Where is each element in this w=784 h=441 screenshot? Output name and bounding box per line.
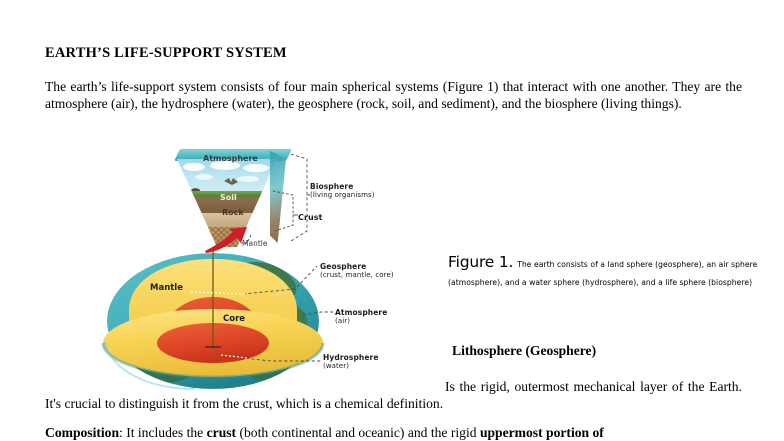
cloud-icon: [183, 163, 205, 171]
cloud-icon: [195, 174, 213, 180]
globe-label-core: Core: [223, 314, 245, 324]
wedge-label-atmosphere: Atmosphere: [203, 154, 258, 163]
callout-subtitle: (crust, mantle, core): [320, 271, 394, 279]
composition-bold-crust: crust: [207, 425, 236, 440]
wedge-layer-atmosphere: [177, 159, 277, 191]
callout-title: Hydrosphere: [323, 353, 379, 362]
globe-label-mantle: Mantle: [150, 283, 183, 293]
section-heading-lithosphere: Lithosphere (Geosphere): [452, 343, 596, 359]
wedge-side-face: [270, 151, 286, 243]
figure-illustration: Atmosphere Soil Rock Mantle Mantle Core …: [95, 145, 435, 393]
callout-subtitle: (water): [323, 362, 379, 370]
composition-text-a: : It includes the: [119, 425, 207, 440]
wedge-label-rock: Rock: [222, 208, 244, 217]
callout-title: Crust: [298, 213, 323, 222]
intro-paragraph: The earth’s life-support system consists…: [45, 78, 742, 112]
page-title: EARTH’S LIFE-SUPPORT SYSTEM: [45, 44, 287, 62]
bird-icon: [223, 177, 239, 187]
wedge-label-mantle: Mantle: [242, 239, 267, 248]
callout-crust: Crust: [298, 213, 323, 222]
callout-geosphere: Geosphere (crust, mantle, core): [320, 262, 394, 279]
callout-hydrosphere: Hydrosphere (water): [323, 353, 379, 370]
composition-paragraph: Composition: It includes the crust (both…: [45, 424, 742, 441]
callout-biosphere: Biosphere (living organisms): [310, 182, 375, 199]
figure-caption-number: Figure 1.: [448, 253, 513, 271]
composition-label: Composition: [45, 425, 119, 440]
callout-title: Biosphere: [310, 182, 375, 191]
cloud-icon: [237, 176, 259, 182]
cloud-icon: [243, 164, 269, 172]
lithosphere-paragraph: Is the rigid, outermost mechanical layer…: [45, 378, 742, 412]
figure-caption: Figure 1. The earth consists of a land s…: [448, 253, 770, 290]
callout-title: Geosphere: [320, 262, 394, 271]
wedge-label-soil: Soil: [220, 193, 237, 202]
figure-text-wrap-spacer: [45, 378, 445, 393]
callout-subtitle: (living organisms): [310, 191, 375, 199]
composition-text-b: (both continental and oceanic) and the r…: [236, 425, 480, 440]
callout-subtitle: (air): [335, 317, 387, 325]
composition-bold-uppermost: uppermost portion of: [480, 425, 604, 440]
callout-title: Atmosphere: [335, 308, 387, 317]
earth-cutaway-globe: [95, 251, 335, 391]
callout-atmosphere: Atmosphere (air): [335, 308, 387, 325]
document-page: EARTH’S LIFE-SUPPORT SYSTEM The earth’s …: [0, 0, 784, 441]
